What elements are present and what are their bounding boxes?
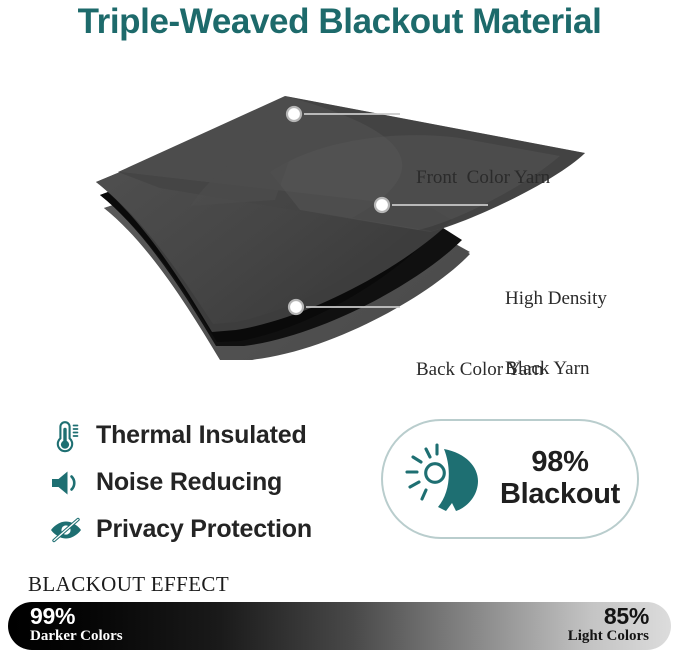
thermometer-icon	[44, 416, 88, 456]
blackout-percent: 98%	[531, 446, 588, 478]
feature-list: Thermal Insulated Noise Reducing Privacy…	[44, 412, 364, 553]
feature-item-noise-reducing: Noise Reducing	[44, 459, 364, 506]
callout-label-line1: High Density	[505, 287, 607, 310]
blackout-badge: 98% Blackout	[381, 419, 639, 539]
callout-label-high-density-black-yarn: High Density Black Yarn	[505, 241, 607, 426]
feature-label: Privacy Protection	[96, 515, 312, 544]
light-colors-label: Light Colors	[568, 629, 649, 644]
blackout-effect-heading: BLACKOUT EFFECT	[28, 572, 229, 597]
page-title: Triple-Weaved Blackout Material	[0, 2, 679, 42]
sun-blocked-curtain-icon	[403, 440, 489, 518]
feature-item-thermal-insulated: Thermal Insulated	[44, 412, 364, 459]
blackout-badge-text: 98% Blackout	[489, 447, 637, 511]
light-colors-block: 85% Light Colors	[568, 605, 649, 644]
light-colors-percent: 85%	[568, 605, 649, 628]
fabric-layer-diagram: Front Color Yarn High Density Black Yarn…	[0, 60, 679, 360]
darker-colors-percent: 99%	[30, 605, 123, 628]
feature-label: Noise Reducing	[96, 468, 282, 497]
feature-label: Thermal Insulated	[96, 421, 307, 450]
blackout-label: Blackout	[500, 478, 620, 510]
blackout-effect-gradient-bar: 99% Darker Colors 85% Light Colors	[8, 602, 671, 650]
darker-colors-block: 99% Darker Colors	[30, 605, 123, 644]
callout-label-front-color-yarn: Front Color Yarn	[416, 166, 550, 189]
callout-label-back-color-yarn: Back Color Yarn	[416, 358, 543, 381]
feature-item-privacy-protection: Privacy Protection	[44, 506, 364, 553]
speaker-sound-icon	[44, 463, 88, 503]
eye-slash-icon	[44, 510, 88, 550]
darker-colors-label: Darker Colors	[30, 629, 123, 644]
